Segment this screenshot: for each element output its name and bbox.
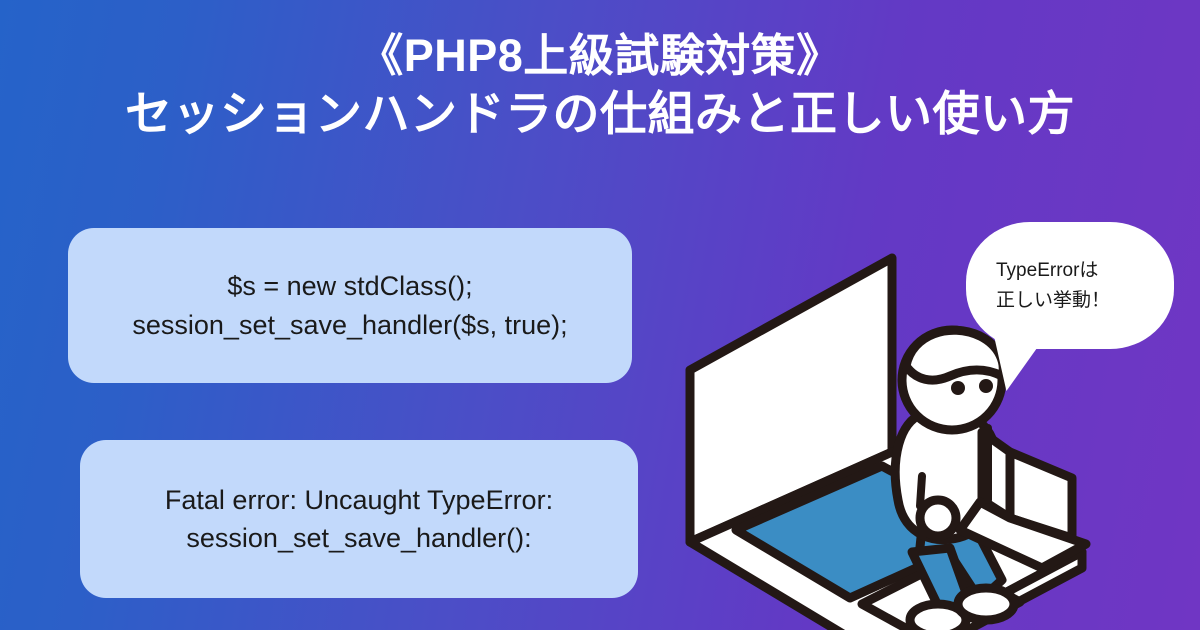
title-line-1: 《PHP8上級試験対策》 — [0, 30, 1200, 82]
person-eye-right — [979, 379, 993, 393]
speech-bubble-text: TypeErrorは 正しい挙動！ — [966, 222, 1174, 349]
speech-bubble-line-2: 正しい挙動！ — [996, 286, 1174, 315]
page-title: 《PHP8上級試験対策》 セッションハンドラの仕組みと正しい使い方 — [0, 30, 1200, 142]
speech-bubble-line-1: TypeErrorは — [996, 256, 1174, 285]
error-message-box: Fatal error: Uncaught TypeError: session… — [80, 440, 638, 598]
error-line-1: Fatal error: Uncaught TypeError: — [165, 481, 553, 519]
speech-bubble: TypeErrorは 正しい挙動！ — [966, 222, 1174, 349]
error-line-2: session_set_save_handler(): — [186, 519, 531, 557]
code-line-2: session_set_save_handler($s, true); — [132, 306, 567, 344]
person-eye-left — [951, 381, 965, 395]
code-line-1: $s = new stdClass(); — [227, 267, 472, 305]
title-line-2: セッションハンドラの仕組みと正しい使い方 — [0, 87, 1200, 142]
code-sample-box: $s = new stdClass(); session_set_save_ha… — [68, 228, 632, 383]
person-shoe-front — [958, 588, 1014, 620]
slide-canvas: 《PHP8上級試験対策》 セッションハンドラの仕組みと正しい使い方 — [0, 0, 1200, 630]
person-hand — [920, 500, 956, 536]
